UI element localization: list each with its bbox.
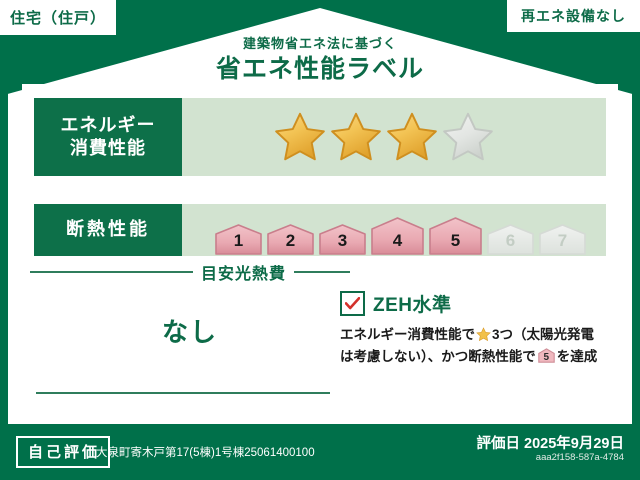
zeh-desc-stars: 3つ（太陽光発電 [492,327,594,342]
insulation-performance-label-key: 断熱性能 [34,204,182,256]
zeh-desc-part2: は考慮しない）、かつ断熱性能で [340,349,536,364]
inline-chip-value: 5 [538,353,555,363]
insulation-level-3: 3 [318,223,367,256]
insulation-performance-row: 断熱性能 1234567 [34,204,606,256]
insulation-level-number: 4 [370,231,425,251]
insulation-level-7: 7 [538,223,587,256]
star-rating [182,111,494,163]
badge-building-type: 住宅（住戸） [0,0,116,35]
insulation-level-number: 3 [318,231,367,251]
property-address: 大泉町寄木戸第17(5棟)1号棟25061400100 [96,444,315,460]
insulation-level-5: 5 [428,216,483,256]
label-footer: 自己評価 大泉町寄木戸第17(5棟)1号棟25061400100 評価日 202… [0,424,640,480]
insulation-level-1: 1 [214,223,263,256]
insulation-level-2: 2 [266,223,315,256]
energy-key-line1: エネルギー [61,114,156,137]
cost-rule-right [294,271,350,273]
insulation-rating-value: 1234567 [182,204,606,256]
insulation-key-text: 断熱性能 [66,218,150,241]
energy-rating-value [182,98,606,176]
badge-renewable-energy: 再エネ設備なし [507,0,640,32]
zeh-title: ZEH水準 [373,290,452,317]
zeh-desc-part3: を達成 [557,349,598,364]
utility-cost-title: 目安光熱費 [193,260,294,284]
energy-key-line2: 消費性能 [70,137,146,160]
title-subtitle: 建築物省エネ法に基づく [0,36,640,52]
cost-underline-divider [36,392,330,394]
energy-performance-row: エネルギー 消費性能 [34,98,606,176]
energy-performance-label-key: エネルギー 消費性能 [34,98,182,176]
zeh-description: エネルギー消費性能で3つ（太陽光発電 は考慮しない）、かつ断熱性能で5を達成 [340,324,614,367]
zeh-standard-block: ZEH水準 エネルギー消費性能で3つ（太陽光発電 は考慮しない）、かつ断熱性能で… [340,290,614,367]
inline-star-icon [476,327,491,342]
zeh-desc-part1: エネルギー消費性能で [340,327,475,342]
zeh-header: ZEH水準 [340,290,614,317]
star-empty-icon [442,111,494,163]
page-title: 建築物省エネ法に基づく 省エネ性能ラベル [0,36,640,85]
utility-cost-value: なし [30,312,350,349]
inline-house-chip: 5 [538,348,555,363]
energy-performance-label: 住宅（住戸） 再エネ設備なし 建築物省エネ法に基づく 省エネ性能ラベル エネルギ… [0,0,640,480]
check-icon [340,291,365,316]
star-filled-icon [274,111,326,163]
insulation-level-number: 2 [266,231,315,251]
utility-cost-header: 目安光熱費 [30,262,350,282]
insulation-level-6: 6 [486,223,535,256]
title-main: 省エネ性能ラベル [0,54,640,85]
cost-rule-left [30,271,193,273]
star-filled-icon [386,111,438,163]
star-filled-icon [330,111,382,163]
insulation-level-number: 1 [214,231,263,251]
insulation-level-number: 6 [486,231,535,251]
evaluation-id: aaa2f158-587a-4784 [536,452,624,463]
insulation-level-number: 5 [428,231,483,251]
insulation-level-4: 4 [370,216,425,256]
insulation-scale: 1234567 [182,204,587,256]
insulation-level-number: 7 [538,231,587,251]
evaluation-date: 評価日 2025年9月29日 [477,432,624,453]
